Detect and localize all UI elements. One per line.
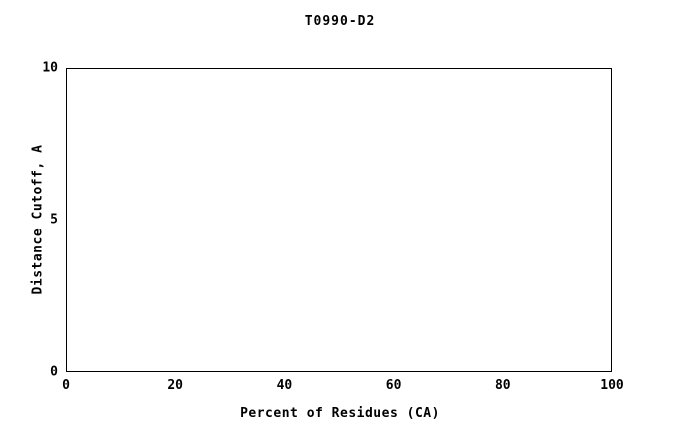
y-axis-label: Distance Cutoff, A bbox=[31, 90, 46, 350]
x-tick-label: 80 bbox=[495, 378, 511, 393]
x-tick-label: 60 bbox=[386, 378, 402, 393]
y-tick-label: 10 bbox=[42, 61, 58, 76]
x-tick-label: 100 bbox=[600, 378, 623, 393]
x-axis-label: Percent of Residues (CA) bbox=[0, 406, 680, 421]
chart-root: T0990-D2 Distance Cutoff, A Percent of R… bbox=[0, 0, 680, 440]
y-tick-label: 0 bbox=[50, 365, 58, 380]
page-title: T0990-D2 bbox=[0, 14, 680, 29]
x-tick-label: 20 bbox=[167, 378, 183, 393]
plot-area bbox=[66, 68, 612, 372]
x-tick-label: 0 bbox=[62, 378, 70, 393]
x-tick-label: 40 bbox=[277, 378, 293, 393]
y-tick-label: 5 bbox=[50, 213, 58, 228]
plot-frame bbox=[66, 68, 612, 372]
